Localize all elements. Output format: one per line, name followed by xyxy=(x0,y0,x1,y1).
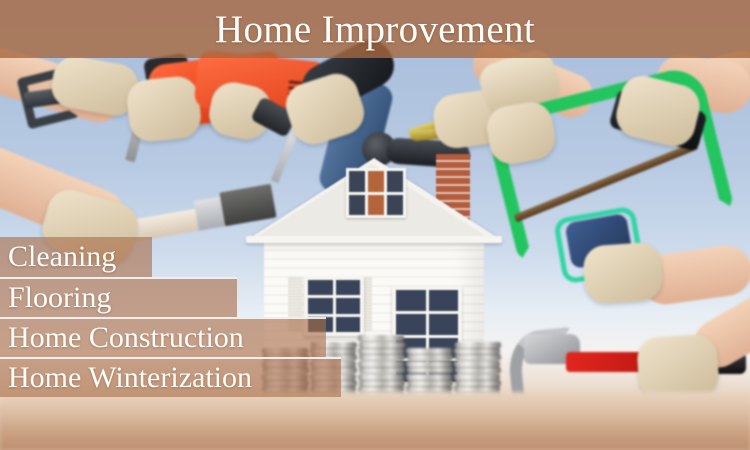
menu-item-label: Cleaning xyxy=(8,242,116,272)
page-title: Home Improvement xyxy=(215,10,535,49)
title-banner: Home Improvement xyxy=(0,0,750,58)
menu-item-label: Flooring xyxy=(8,283,111,313)
category-menu[interactable]: Cleaning Flooring Home Construction Home… xyxy=(0,237,341,397)
menu-item-home-construction[interactable]: Home Construction xyxy=(0,317,326,357)
menu-item-label: Home Winterization xyxy=(8,363,252,393)
work-glove-hammer xyxy=(636,333,720,400)
menu-item-home-winterization[interactable]: Home Winterization xyxy=(0,357,341,397)
menu-item-cleaning[interactable]: Cleaning xyxy=(0,237,152,277)
home-improvement-banner: Home Improvement Cleaning Flooring Home … xyxy=(0,0,750,450)
desk-surface xyxy=(0,392,750,450)
menu-item-label: Home Construction xyxy=(8,323,244,353)
menu-item-flooring[interactable]: Flooring xyxy=(0,277,237,317)
